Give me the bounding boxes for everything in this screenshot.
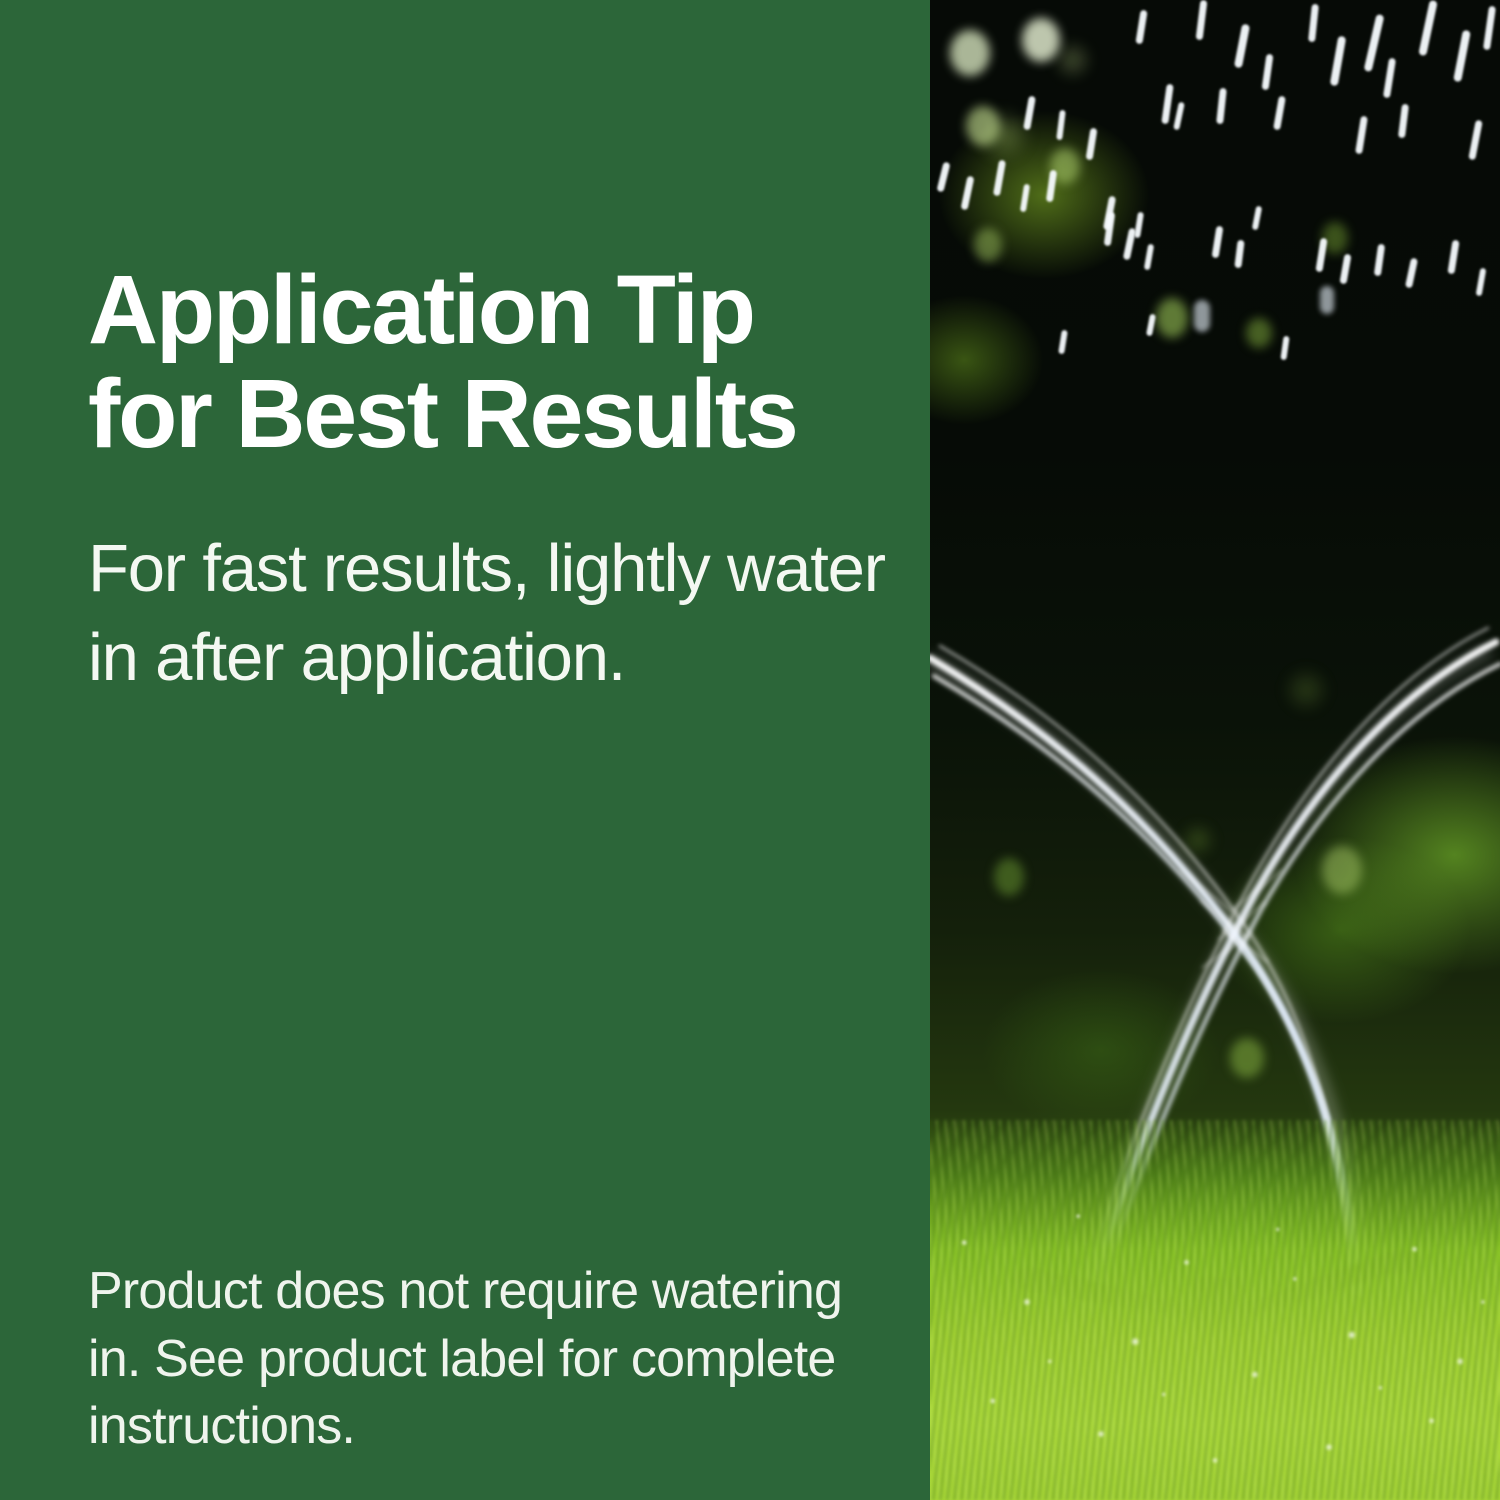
- grass-dew-droplets: [930, 1170, 1500, 1500]
- photo-stage: [930, 0, 1500, 1500]
- text-panel: Application Tip for Best Results For fas…: [0, 0, 930, 1500]
- sprinkler-photo: [930, 0, 1500, 1500]
- subcopy-text: For fast results, lightly water in after…: [88, 524, 898, 704]
- copy-block: Application Tip for Best Results For fas…: [88, 258, 908, 703]
- disclaimer-text: Product does not require watering in. Se…: [88, 1258, 888, 1461]
- page-title: Application Tip for Best Results: [88, 258, 848, 466]
- promo-card: Application Tip for Best Results For fas…: [0, 0, 1500, 1500]
